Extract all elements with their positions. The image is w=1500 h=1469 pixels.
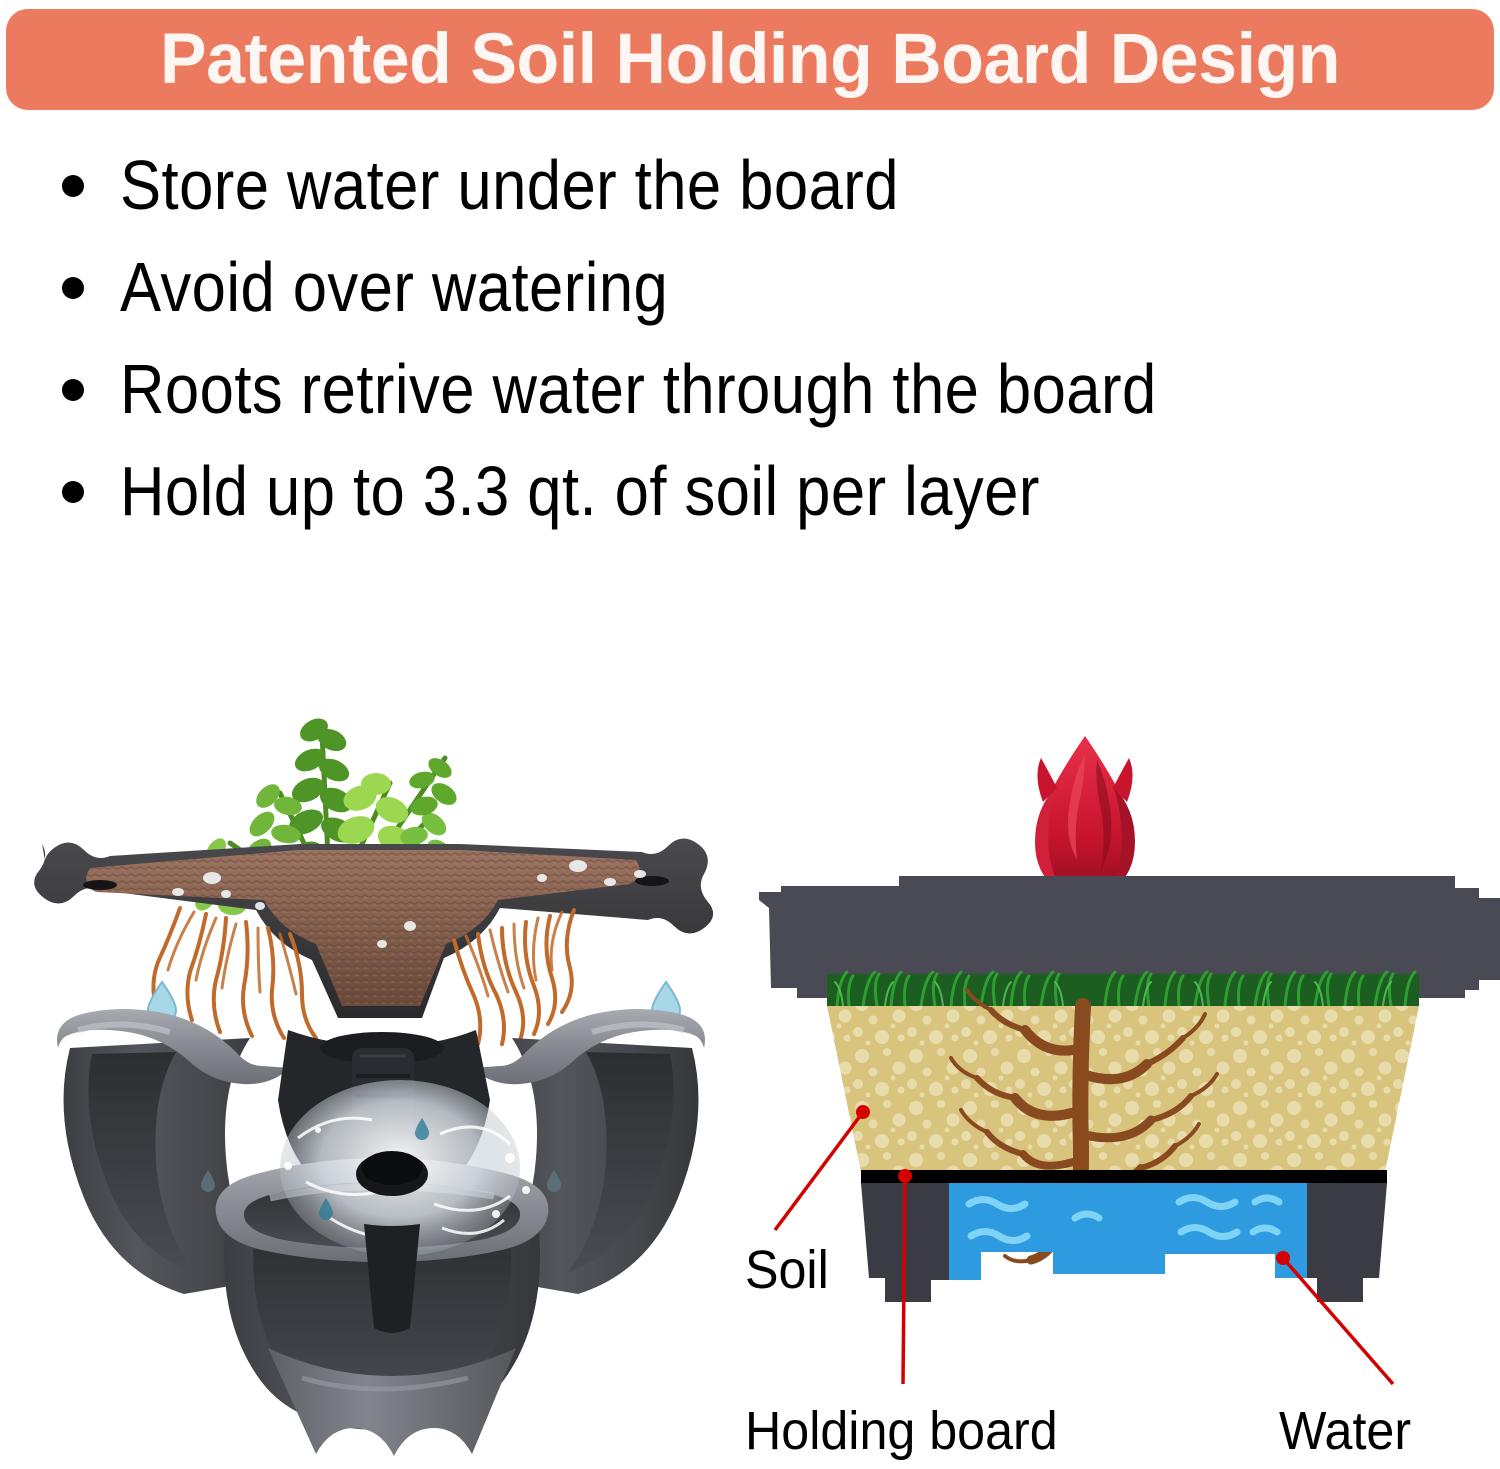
- illustration-area: Soil Holding board Water: [0, 578, 1500, 1469]
- label-soil: Soil: [745, 1243, 829, 1297]
- feature-item: Avoid over watering: [0, 252, 1500, 354]
- soil-fill: [827, 1006, 1419, 1172]
- leader-line-soil: [775, 1112, 863, 1230]
- soil-holding-board: [34, 838, 713, 1018]
- rose-flower-icon: [1035, 736, 1135, 900]
- bullet-icon: [62, 481, 84, 503]
- header-banner: Patented Soil Holding Board Design: [6, 9, 1494, 110]
- feature-item: Hold up to 3.3 qt. of soil per layer: [0, 456, 1500, 558]
- grass-layer: [827, 972, 1419, 1006]
- feature-label: Roots retrive water through the board: [120, 354, 1157, 424]
- feature-label: Avoid over watering: [120, 252, 668, 322]
- bullet-icon: [62, 277, 84, 299]
- label-water: Water: [1279, 1404, 1411, 1458]
- leader-line-board: [903, 1176, 905, 1384]
- feature-label: Store water under the board: [120, 150, 899, 220]
- bullet-icon: [62, 175, 84, 197]
- label-holding-board: Holding board: [745, 1404, 1058, 1458]
- cross-section-diagram: Soil Holding board Water: [745, 578, 1500, 1469]
- feature-item: Store water under the board: [0, 150, 1500, 252]
- feature-label: Hold up to 3.3 qt. of soil per layer: [120, 456, 1040, 526]
- feature-item: Roots retrive water through the board: [0, 354, 1500, 456]
- water-reservoir: [945, 1183, 1311, 1280]
- stacked-planter-photo: [30, 578, 730, 1469]
- holding-board: [861, 1170, 1387, 1183]
- bullet-icon: [62, 379, 84, 401]
- feature-list: Store water under the board Avoid over w…: [0, 150, 1500, 558]
- page-title: Patented Soil Holding Board Design: [160, 24, 1340, 95]
